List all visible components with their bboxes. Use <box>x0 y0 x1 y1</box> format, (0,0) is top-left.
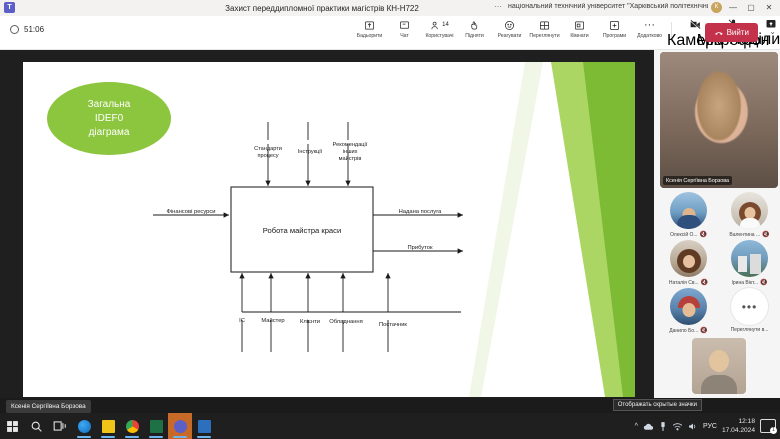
leave-button[interactable]: Вийти <box>705 23 758 42</box>
excel-icon <box>150 420 163 433</box>
title-bar: T Захист переддипломної практики магістр… <box>0 0 780 16</box>
taskbar-app-excel[interactable] <box>144 413 168 439</box>
teams-icon <box>174 420 187 433</box>
participant-meta: Олексій О... 🔇 <box>660 231 717 238</box>
taskbar-app-store[interactable] <box>192 413 216 439</box>
avatar <box>670 192 707 229</box>
participant-meta: Наталія Св... 🔇 <box>660 279 717 286</box>
main-tile-name: Ксенія Сергіївна Борзова <box>663 176 732 185</box>
svg-text:майстрів: майстрів <box>339 155 362 162</box>
raise-hand-icon <box>469 18 480 32</box>
participant-name: Данило Бо... <box>669 328 698 334</box>
minimize-button[interactable]: — <box>724 0 742 16</box>
shared-content-stage: Загальна IDEF0 діаграма Робота майстра к… <box>0 50 654 398</box>
store-icon <box>198 420 211 433</box>
leave-chevron-icon[interactable]: ⌄ <box>769 27 776 36</box>
participant-name: Валентина ... <box>729 232 760 238</box>
toolbar-label: Програми <box>603 33 626 39</box>
toolbar-item-more[interactable]: ··· Додатково <box>632 18 667 39</box>
participant-name: Ірина Вікт... <box>732 280 759 286</box>
search-icon[interactable] <box>24 413 48 439</box>
maximize-button[interactable]: ▢ <box>742 0 760 16</box>
toolbar-label: Переглянути <box>529 33 559 39</box>
people-count: 14 <box>442 22 449 28</box>
clock[interactable]: 12:18 17.04.2024 <box>722 417 755 435</box>
svg-text:Інструкції: Інструкції <box>298 149 323 155</box>
toolbar-label: Кімнати <box>570 33 588 39</box>
start-icon[interactable] <box>0 413 24 439</box>
close-button[interactable]: ✕ <box>760 0 778 16</box>
svg-text:Прибуток: Прибуток <box>407 245 433 251</box>
participant-tiles: Олексій О... 🔇 Валентина ... 🔇 <box>660 192 778 334</box>
taskbar-app-teams[interactable] <box>168 413 192 439</box>
avatar <box>731 240 768 277</box>
svg-text:Обладнання: Обладнання <box>329 319 363 325</box>
participant-tile[interactable]: Олексій О... 🔇 <box>660 192 717 238</box>
apps-plus-icon <box>609 18 620 32</box>
avatar <box>670 288 707 325</box>
participant-tile[interactable]: Данило Бо... 🔇 <box>660 288 717 334</box>
hangup-icon <box>714 28 724 38</box>
organization-name: національний технічний університет "Харк… <box>508 3 708 10</box>
language-indicator[interactable]: РУС <box>703 423 717 430</box>
windows-taskbar: Отображать скрытые значки ^ РУС 12:18 17… <box>0 413 780 439</box>
participant-name: Олексій О... <box>670 232 698 238</box>
notes-icon <box>102 420 115 433</box>
people-icon: 14 <box>430 18 449 32</box>
taskbar-app-chrome[interactable] <box>120 413 144 439</box>
camera-off-icon <box>689 18 702 31</box>
toolbar-label: Користувачі <box>425 33 453 39</box>
view-more-label: Переглянути в... <box>731 327 769 333</box>
participant-tile[interactable]: Валентина ... 🔇 <box>721 192 778 238</box>
avatar[interactable]: К <box>711 2 722 13</box>
presentation-slide: Загальна IDEF0 діаграма Робота майстра к… <box>23 62 635 397</box>
mic-off-icon: 🔇 <box>760 279 767 286</box>
participant-meta: Переглянути в... <box>721 327 778 333</box>
chrome-icon <box>126 420 139 433</box>
participant-meta: Валентина ... 🔇 <box>721 231 778 238</box>
svg-text:Постачник: Постачник <box>379 322 407 328</box>
toolbar-item-raise-hand[interactable]: Підняти <box>457 18 492 39</box>
tray-time: 12:18 <box>738 417 755 426</box>
toolbar-item-rooms[interactable]: Кімнати <box>562 18 597 39</box>
avatar <box>731 192 768 229</box>
toolbar-item-chat[interactable]: Чат <box>387 18 422 39</box>
svg-text:Клієнти: Клієнти <box>300 319 320 325</box>
toolbar-item-people[interactable]: 14 Користувачі <box>422 18 457 39</box>
svg-text:Майстер: Майстер <box>261 317 284 324</box>
timer-value: 51:06 <box>24 25 44 34</box>
view-grid-icon <box>539 18 550 32</box>
main-video-tile[interactable]: Ксенія Сергіївна Борзова <box>660 52 778 188</box>
toolbar-item-energy[interactable]: Бадьорити <box>352 18 387 39</box>
leave-label: Вийти <box>727 28 749 37</box>
reactions-icon <box>504 18 515 32</box>
toolbar-item-reactions[interactable]: Реагувати <box>492 18 527 39</box>
volume-icon[interactable] <box>688 422 698 431</box>
svg-text:ІС: ІС <box>239 318 245 324</box>
taskbar-app-notes[interactable] <box>96 413 120 439</box>
svg-text:Рекомендації: Рекомендації <box>333 142 368 148</box>
svg-text:Надана послуга: Надана послуга <box>399 209 443 215</box>
breakout-rooms-icon <box>574 18 585 32</box>
video-subject <box>682 58 756 178</box>
network-icon[interactable] <box>672 422 683 431</box>
tray-date: 17.04.2024 <box>722 426 755 435</box>
participant-rail: Ксенія Сергіївна Борзова Олексій О... 🔇 <box>658 50 780 398</box>
teams-window: T Захист переддипломної практики магістр… <box>0 0 780 398</box>
participant-name: Наталія Св... <box>669 280 699 286</box>
participant-tile-more[interactable]: ••• Переглянути в... <box>721 288 778 334</box>
toolbar-item-apps[interactable]: Програми <box>597 18 632 39</box>
system-tray: Отображать скрытые значки ^ РУС 12:18 17… <box>635 413 776 439</box>
taskbar-app-browser[interactable] <box>72 413 96 439</box>
participant-tile[interactable]: Ірина Вікт... 🔇 <box>721 240 778 286</box>
svg-text:інших: інших <box>343 149 358 155</box>
title-overflow-icon[interactable]: ··· <box>494 2 502 11</box>
more-ellipsis-icon: ••• <box>731 288 768 325</box>
toolbar-label: Підняти <box>465 33 484 39</box>
onedrive-icon[interactable] <box>643 422 654 431</box>
svg-text:процесу: процесу <box>257 153 278 159</box>
presenter-name-chip: Ксенія Сергіївна Борзова <box>6 400 91 413</box>
svg-text:Фінансові ресурси: Фінансові ресурси <box>166 209 215 215</box>
raise-energy-icon <box>364 18 375 32</box>
participant-meta: Ірина Вікт... 🔇 <box>721 279 778 286</box>
idef0-diagram: Робота майстра краси Стандарти процесу І… <box>23 62 635 397</box>
participant-tile[interactable]: Наталія Св... 🔇 <box>660 240 717 286</box>
screen: T Захист переддипломної практики магістр… <box>0 0 780 439</box>
mic-off-icon: 🔇 <box>701 279 708 286</box>
toolbar-label: Бадьорити <box>357 33 383 39</box>
toolbar-label: Чат <box>400 33 408 39</box>
mic-off-icon: 🔇 <box>700 327 707 334</box>
tray-tooltip: Отображать скрытые значки <box>613 399 702 411</box>
browser-icon <box>78 420 91 433</box>
chat-icon <box>399 18 410 32</box>
mic-off-icon: 🔇 <box>700 231 707 238</box>
toolbar-item-view[interactable]: Переглянути <box>527 18 562 39</box>
toolbar-label: Додатково <box>637 33 662 39</box>
svg-text:Робота майстра краси: Робота майстра краси <box>263 226 341 235</box>
usb-icon[interactable] <box>659 421 667 432</box>
tray-chevron-icon[interactable]: ^ <box>635 423 638 430</box>
task-view-icon[interactable] <box>48 413 72 439</box>
mic-off-icon: 🔇 <box>762 231 769 238</box>
meeting-timer: 51:06 <box>10 25 44 34</box>
meeting-toolbar: 51:06 Бадьорити <box>0 16 780 50</box>
svg-text:Стандарти: Стандарти <box>254 146 282 152</box>
clock-icon <box>10 25 19 34</box>
more-ellipsis-icon: ··· <box>644 18 655 32</box>
participant-meta: Данило Бо... 🔇 <box>660 327 717 334</box>
avatar <box>670 240 707 277</box>
self-preview-tile[interactable] <box>692 338 746 394</box>
action-center-icon[interactable]: 1 <box>760 419 776 433</box>
notification-count: 1 <box>770 427 777 434</box>
toolbar-label: Реагувати <box>498 33 522 39</box>
